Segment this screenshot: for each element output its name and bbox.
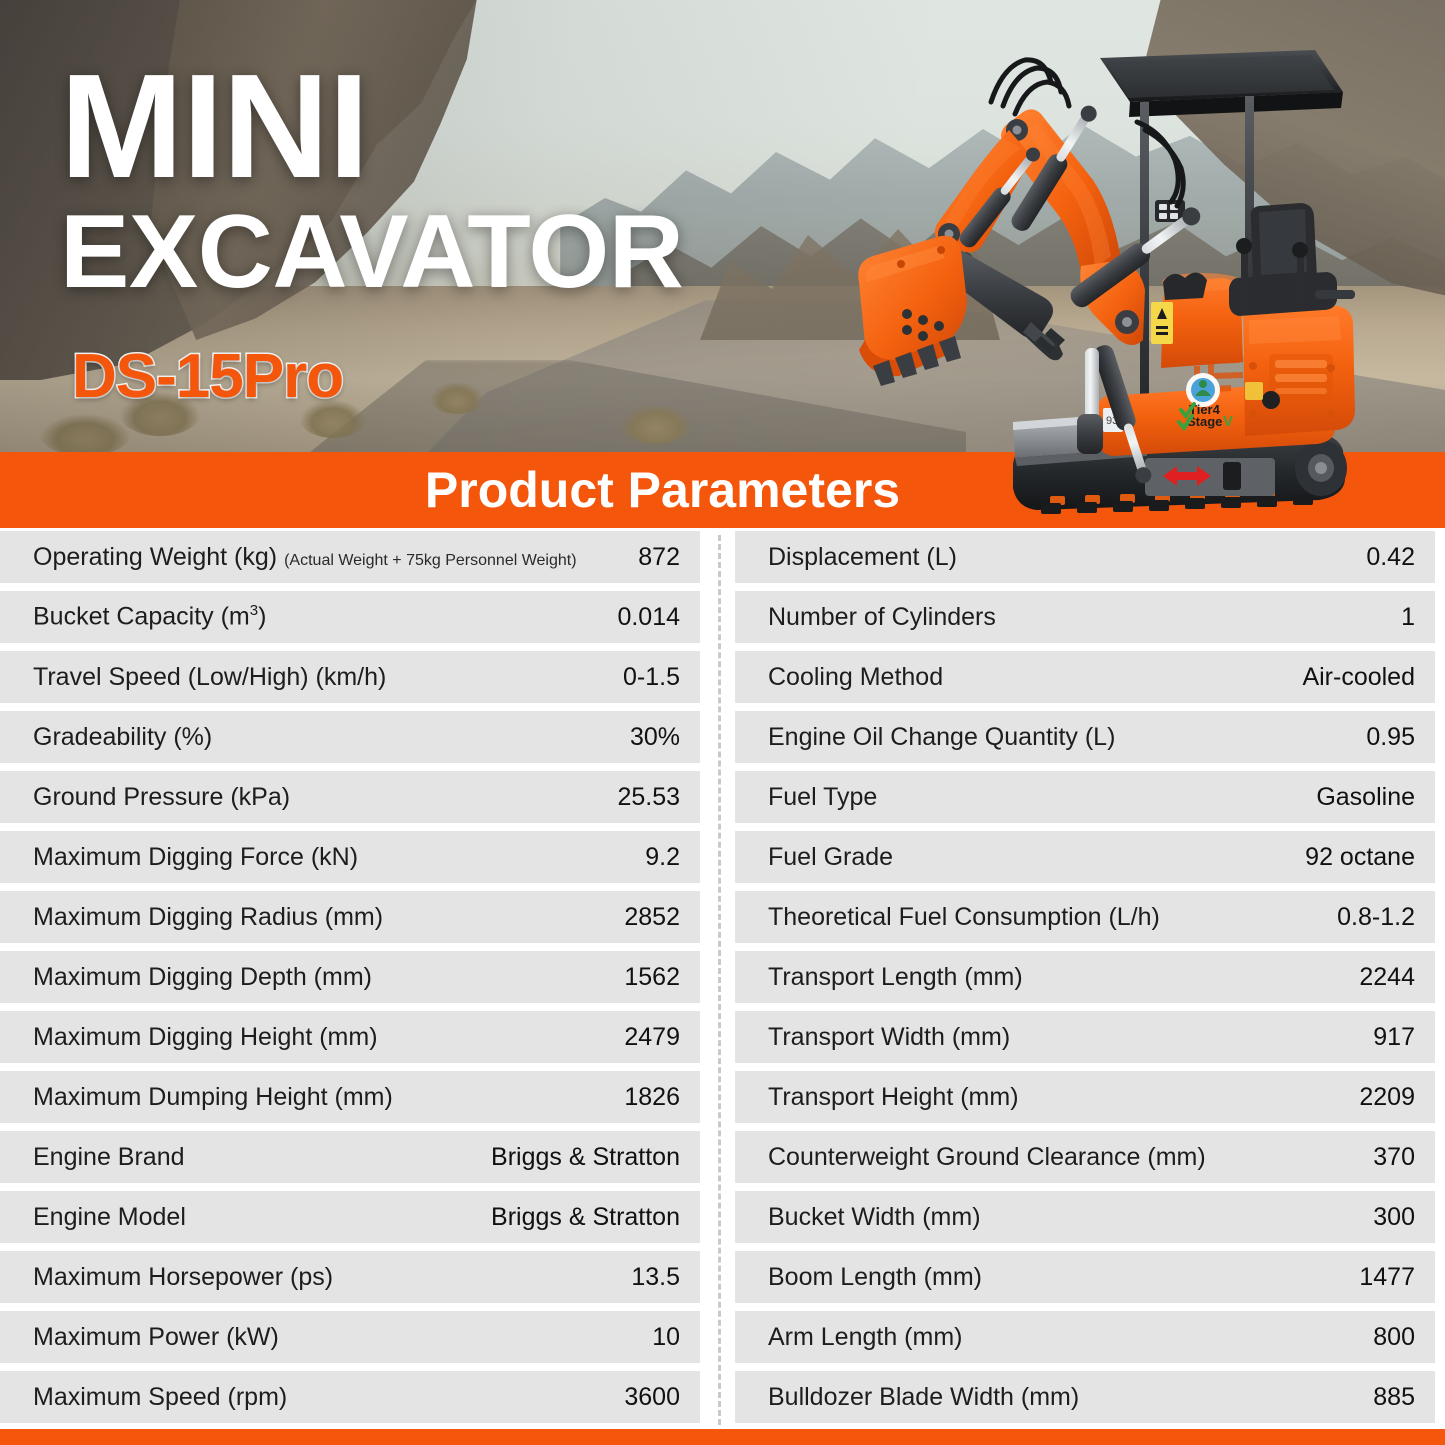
spec-row: Engine ModelBriggs & Stratton <box>0 1191 700 1243</box>
spec-label-text: Maximum Digging Depth (mm) <box>33 963 372 992</box>
spec-row: Engine BrandBriggs & Stratton <box>0 1131 700 1183</box>
spec-row: Transport Height (mm)2209 <box>735 1071 1435 1123</box>
spec-row: Fuel TypeGasoline <box>735 771 1435 823</box>
spec-value: 30% <box>630 723 680 752</box>
spec-label-text: Engine Model <box>33 1203 186 1232</box>
spec-label-text: Theoretical Fuel Consumption (L/h) <box>768 903 1160 932</box>
spec-value: Gasoline <box>1316 783 1415 812</box>
spec-row: Boom Length (mm)1477 <box>735 1251 1435 1303</box>
canopy-post-front <box>1140 102 1149 432</box>
spec-row: Maximum Digging Radius (mm)2852 <box>0 891 700 943</box>
spec-label: Cooling Method <box>768 663 943 692</box>
spec-value: 13.5 <box>631 1263 680 1292</box>
spec-row: Displacement (L)0.42 <box>735 531 1435 583</box>
canopy-roof <box>1100 50 1343 117</box>
spec-label: Maximum Speed (rpm) <box>33 1383 287 1412</box>
spec-label-text: Ground Pressure (kPa) <box>33 783 290 812</box>
spec-label-text: Transport Height (mm) <box>768 1083 1019 1112</box>
spec-label: Maximum Digging Radius (mm) <box>33 903 383 932</box>
spec-value: 1826 <box>624 1083 680 1112</box>
spec-label-text: Bucket Width (mm) <box>768 1203 981 1232</box>
spec-value: 370 <box>1373 1143 1415 1172</box>
spec-row: Bulldozer Blade Width (mm)885 <box>735 1371 1435 1423</box>
svg-text:V: V <box>1223 413 1233 430</box>
spec-label-text: Transport Length (mm) <box>768 963 1023 992</box>
mini-excavator-illustration: Tier4 Stage V 93 <box>845 10 1445 530</box>
scrub-bush <box>620 404 692 444</box>
spec-value: 3600 <box>624 1383 680 1412</box>
spec-row: Travel Speed (Low/High) (km/h)0-1.5 <box>0 651 700 703</box>
spec-label: Bulldozer Blade Width (mm) <box>768 1383 1079 1412</box>
spec-value: 0.42 <box>1366 543 1415 572</box>
spec-value: 0.014 <box>617 603 680 632</box>
spec-row: Transport Width (mm)917 <box>735 1011 1435 1063</box>
spec-value: 2852 <box>624 903 680 932</box>
spec-value: 872 <box>638 543 680 572</box>
spec-label: Maximum Horsepower (ps) <box>33 1263 333 1292</box>
bucket-assembly <box>858 236 1065 386</box>
spec-label: Bucket Capacity (m3) <box>33 602 266 631</box>
spec-row: Arm Length (mm)800 <box>735 1311 1435 1363</box>
spec-label-text: Arm Length (mm) <box>768 1323 962 1352</box>
spec-label-text: Maximum Digging Radius (mm) <box>33 903 383 932</box>
spec-column-left: Operating Weight (kg)(Actual Weight + 75… <box>0 531 700 1431</box>
spec-label-text: Fuel Grade <box>768 843 893 872</box>
spec-label: Maximum Dumping Height (mm) <box>33 1083 393 1112</box>
spec-row: Transport Length (mm)2244 <box>735 951 1435 1003</box>
title-line-excavator: EXCAVATOR <box>60 196 683 304</box>
spec-label-text: Maximum Horsepower (ps) <box>33 1263 333 1292</box>
spec-row: Gradeability (%)30% <box>0 711 700 763</box>
spec-label-text: Boom Length (mm) <box>768 1263 982 1292</box>
spec-label: Maximum Power (kW) <box>33 1323 279 1352</box>
product-spec-page: MINI EXCAVATOR DS-15Pro <box>0 0 1445 1445</box>
spec-label: Maximum Digging Force (kN) <box>33 843 358 872</box>
spec-label-text: Transport Width (mm) <box>768 1023 1010 1052</box>
spec-label-text: Cooling Method <box>768 663 943 692</box>
spec-label: Number of Cylinders <box>768 603 996 632</box>
spec-row: Counterweight Ground Clearance (mm)370 <box>735 1131 1435 1183</box>
spec-label: Boom Length (mm) <box>768 1263 982 1292</box>
spec-label-text: Engine Brand <box>33 1143 185 1172</box>
spec-column-right: Displacement (L)0.42Number of Cylinders1… <box>735 531 1435 1431</box>
spec-label: Operating Weight (kg)(Actual Weight + 75… <box>33 543 577 572</box>
spec-label: Bucket Width (mm) <box>768 1203 981 1232</box>
spec-label-text: Bucket Capacity (m3) <box>33 602 266 631</box>
spec-label-text: Bulldozer Blade Width (mm) <box>768 1383 1079 1412</box>
spec-label-text: Maximum Digging Force (kN) <box>33 843 358 872</box>
spec-label: Counterweight Ground Clearance (mm) <box>768 1143 1206 1172</box>
title-line-mini: MINI <box>60 58 683 196</box>
spec-label: Transport Width (mm) <box>768 1023 1010 1052</box>
spec-label-text: Maximum Dumping Height (mm) <box>33 1083 393 1112</box>
spec-row: Maximum Horsepower (ps)13.5 <box>0 1251 700 1303</box>
spec-label: Fuel Grade <box>768 843 893 872</box>
spec-value: 25.53 <box>617 783 680 812</box>
scrub-bush <box>40 414 130 455</box>
spec-label-note: (Actual Weight + 75kg Personnel Weight) <box>284 552 576 570</box>
spec-label: Maximum Digging Height (mm) <box>33 1023 378 1052</box>
spec-value: 917 <box>1373 1023 1415 1052</box>
spec-value: 885 <box>1373 1383 1415 1412</box>
spec-value: 1 <box>1401 603 1415 632</box>
spec-value: 2209 <box>1359 1083 1415 1112</box>
spec-label: Gradeability (%) <box>33 723 212 752</box>
spec-row: Cooling MethodAir-cooled <box>735 651 1435 703</box>
spec-label: Travel Speed (Low/High) (km/h) <box>33 663 386 692</box>
spec-row: Ground Pressure (kPa)25.53 <box>0 771 700 823</box>
spec-label: Transport Length (mm) <box>768 963 1023 992</box>
spec-row: Operating Weight (kg)(Actual Weight + 75… <box>0 531 700 583</box>
spec-label-text: Maximum Digging Height (mm) <box>33 1023 378 1052</box>
spec-label-text: Gradeability (%) <box>33 723 212 752</box>
spec-value: 1477 <box>1359 1263 1415 1292</box>
spec-value: 2244 <box>1359 963 1415 992</box>
spec-row: Maximum Dumping Height (mm)1826 <box>0 1071 700 1123</box>
spec-row: Maximum Digging Height (mm)2479 <box>0 1011 700 1063</box>
spec-value: 2479 <box>624 1023 680 1052</box>
spec-label-text: Maximum Speed (rpm) <box>33 1383 287 1412</box>
spec-label: Arm Length (mm) <box>768 1323 962 1352</box>
spec-label: Fuel Type <box>768 783 877 812</box>
spec-label: Maximum Digging Depth (mm) <box>33 963 372 992</box>
spec-table: Operating Weight (kg)(Actual Weight + 75… <box>0 531 1445 1429</box>
spec-label-text: Counterweight Ground Clearance (mm) <box>768 1143 1206 1172</box>
column-divider <box>718 535 721 1425</box>
spec-value: 1562 <box>624 963 680 992</box>
spec-value: 0.95 <box>1366 723 1415 752</box>
spec-value: Air-cooled <box>1302 663 1415 692</box>
spec-label-text: Displacement (L) <box>768 543 957 572</box>
spec-label: Engine Brand <box>33 1143 185 1172</box>
spec-value: Briggs & Stratton <box>491 1203 680 1232</box>
hero-title-group: MINI EXCAVATOR DS-15Pro <box>60 58 683 408</box>
spec-row: Maximum Digging Force (kN)9.2 <box>0 831 700 883</box>
spec-label-text: Fuel Type <box>768 783 877 812</box>
spec-value: 0.8-1.2 <box>1337 903 1415 932</box>
spec-value: 92 octane <box>1305 843 1415 872</box>
spec-value: 9.2 <box>645 843 680 872</box>
spec-row: Theoretical Fuel Consumption (L/h)0.8-1.… <box>735 891 1435 943</box>
spec-label: Ground Pressure (kPa) <box>33 783 290 812</box>
spec-row: Fuel Grade92 octane <box>735 831 1435 883</box>
spec-label: Displacement (L) <box>768 543 957 572</box>
spec-label-text: Number of Cylinders <box>768 603 996 632</box>
spec-label-text: Maximum Power (kW) <box>33 1323 279 1352</box>
bottom-accent-bar <box>0 1429 1445 1445</box>
spec-row: Number of Cylinders1 <box>735 591 1435 643</box>
spec-value: Briggs & Stratton <box>491 1143 680 1172</box>
spec-label-text: Travel Speed (Low/High) (km/h) <box>33 663 386 692</box>
spec-row: Bucket Width (mm)300 <box>735 1191 1435 1243</box>
spec-label: Engine Oil Change Quantity (L) <box>768 723 1115 752</box>
spec-row: Maximum Power (kW)10 <box>0 1311 700 1363</box>
spec-value: 0-1.5 <box>623 663 680 692</box>
spec-label: Theoretical Fuel Consumption (L/h) <box>768 903 1160 932</box>
spec-row: Engine Oil Change Quantity (L)0.95 <box>735 711 1435 763</box>
model-name: DS-15Pro <box>60 304 683 408</box>
spec-value: 800 <box>1373 1323 1415 1352</box>
spec-label-text: Operating Weight (kg) <box>33 543 277 572</box>
spec-label: Transport Height (mm) <box>768 1083 1019 1112</box>
spec-row: Maximum Speed (rpm)3600 <box>0 1371 700 1423</box>
spec-row: Bucket Capacity (m3)0.014 <box>0 591 700 643</box>
spec-row: Maximum Digging Depth (mm)1562 <box>0 951 700 1003</box>
spec-value: 10 <box>652 1323 680 1352</box>
spec-label-text: Engine Oil Change Quantity (L) <box>768 723 1115 752</box>
spec-label: Engine Model <box>33 1203 186 1232</box>
spec-value: 300 <box>1373 1203 1415 1232</box>
